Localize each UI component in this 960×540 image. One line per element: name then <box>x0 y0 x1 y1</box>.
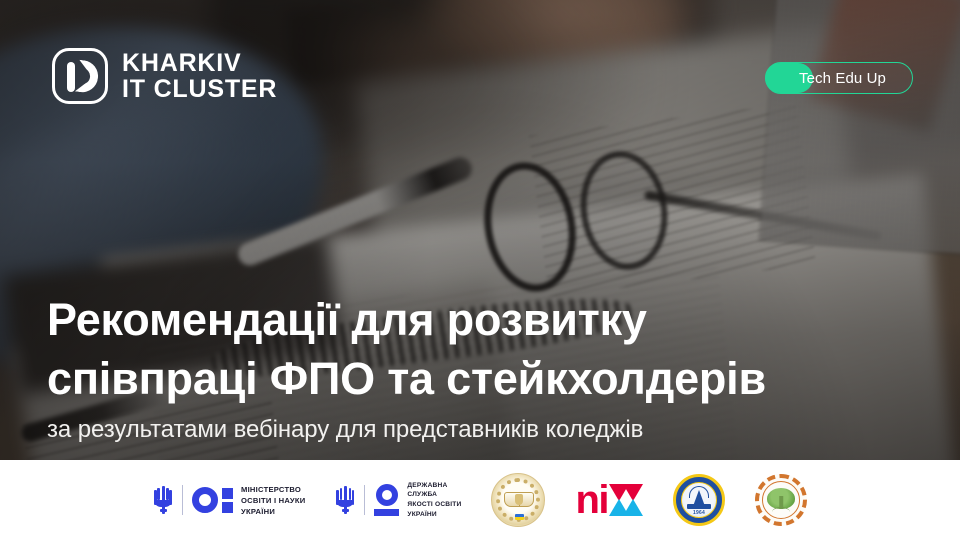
logo-mark-arc <box>75 60 100 95</box>
ukraine-flag-icon <box>515 514 524 520</box>
tree-gear-emblem-icon <box>755 474 807 526</box>
brand-logo-text: KHARKIV IT CLUSTER <box>122 50 277 103</box>
ministry-label-line1: МІНІСТЕРСТВО <box>241 484 305 495</box>
ministry-ring-icon <box>192 487 218 513</box>
brand-name-line2: IT CLUSTER <box>122 76 277 103</box>
service-label-line1: ДЕРЖАВНА <box>407 481 461 491</box>
nix-x-icon <box>609 484 643 516</box>
service-label: ДЕРЖАВНА СЛУЖБА ЯКОСТІ ОСВІТИ УКРАЇНИ <box>407 481 461 520</box>
presentation-slide: KHARKIV IT CLUSTER Tech Edu Up Рекоменда… <box>0 0 960 540</box>
partner-gold-wreath-emblem <box>491 473 545 527</box>
logo-divider <box>182 485 183 515</box>
service-label-line4: УКРАЇНИ <box>407 510 461 520</box>
title-line-1: Рекомендації для розвитку <box>47 291 927 350</box>
partner-tree-emblem <box>755 474 807 526</box>
service-label-line2: СЛУЖБА <box>407 490 461 500</box>
college-radio-emblem-icon: 1964 <box>673 474 725 526</box>
partner-ministry-of-education: МІНІСТЕРСТВО ОСВІТИ І НАУКИ УКРАЇНИ <box>153 484 305 517</box>
subtitle: за результатами вебінару для представник… <box>47 416 927 444</box>
partner-logo-bar: МІНІСТЕРСТВО ОСВІТИ І НАУКИ УКРАЇНИ ДЕРЖ… <box>0 460 960 540</box>
ministry-label-line2: ОСВІТИ І НАУКИ <box>241 495 305 506</box>
college-founding-year: 1964 <box>693 510 705 516</box>
ministry-squares-icon <box>222 488 233 513</box>
ministry-label: МІНІСТЕРСТВО ОСВІТИ І НАУКИ УКРАЇНИ <box>241 484 305 517</box>
tech-edu-up-badge[interactable]: Tech Edu Up <box>765 62 913 94</box>
title-line-2: співпраці ФПО та стейкхолдерів <box>47 350 927 409</box>
logo-divider <box>364 485 365 515</box>
tree-roots-icon <box>772 507 790 512</box>
service-ring-bar-icon <box>374 484 399 516</box>
nix-wordmark: ni <box>575 480 608 520</box>
partner-state-education-quality-service: ДЕРЖАВНА СЛУЖБА ЯКОСТІ ОСВІТИ УКРАЇНИ <box>335 481 461 520</box>
tower-base-icon <box>687 504 711 509</box>
trident-icon <box>335 485 355 515</box>
headline-block: Рекомендації для розвитку співпраці ФПО … <box>47 291 927 444</box>
partner-nix: ni <box>575 480 643 520</box>
brand-name-line1: KHARKIV <box>122 50 277 77</box>
service-label-line3: ЯКОСТІ ОСВІТИ <box>407 500 461 510</box>
brand-logo: KHARKIV IT CLUSTER <box>52 48 277 104</box>
ministry-label-line3: УКРАЇНИ <box>241 506 305 517</box>
trident-icon <box>153 485 173 515</box>
badge-label: Tech Edu Up <box>799 70 886 87</box>
partner-college-emblem: 1964 <box>673 474 725 526</box>
logo-mark-bar <box>67 62 75 92</box>
gold-wreath-emblem-icon <box>491 473 545 527</box>
kharkiv-it-cluster-icon <box>52 48 108 104</box>
